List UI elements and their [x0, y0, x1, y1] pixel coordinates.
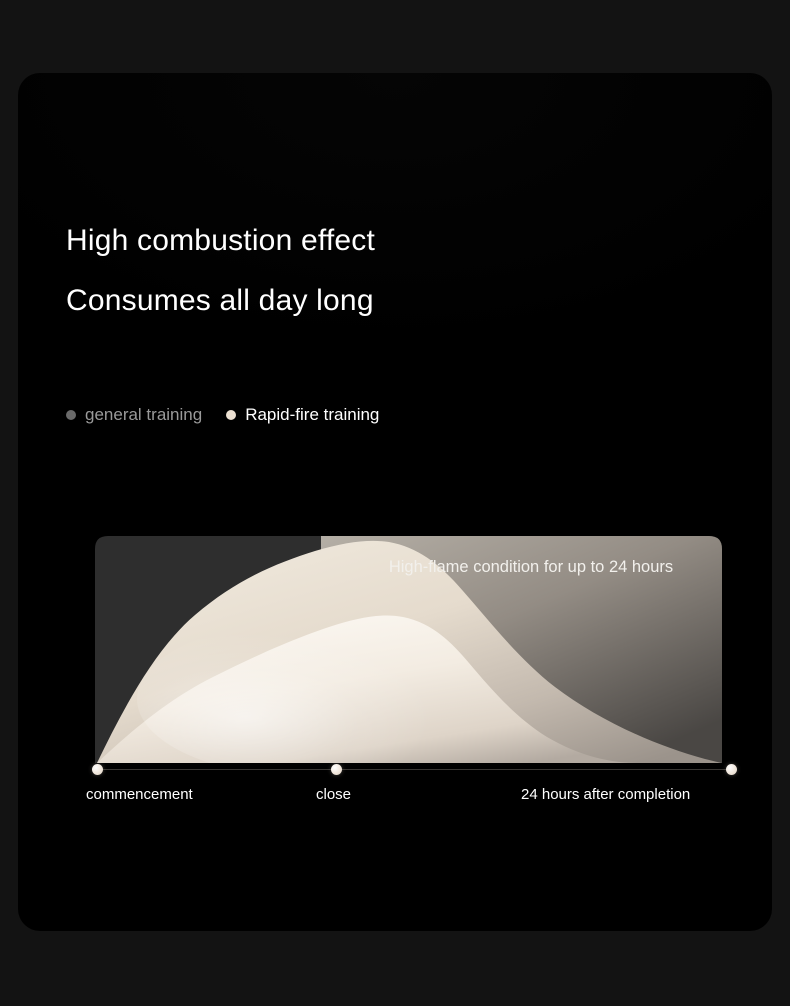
- axis-tick-dot-commencement: [92, 764, 103, 775]
- chart-x-axis: commencement close 24 hours after comple…: [77, 760, 722, 820]
- chart-canvas: [77, 463, 722, 773]
- axis-tick-dot-24-hours: [726, 764, 737, 775]
- axis-baseline: [97, 769, 732, 770]
- axis-label-commencement: commencement: [86, 785, 193, 805]
- core-glow: [137, 621, 477, 773]
- promo-card: High combustion effect Consumes all day …: [18, 73, 772, 931]
- legend-dot-icon: [226, 410, 236, 420]
- axis-label-24-hours-after-completion: 24 hours after completion: [521, 785, 690, 805]
- legend-item-general-training[interactable]: general training: [66, 405, 202, 425]
- legend-dot-icon: [66, 410, 76, 420]
- chart-legend: general training Rapid-fire training: [66, 405, 379, 425]
- headline-line-1: High combustion effect: [66, 211, 706, 271]
- page-title: High combustion effect Consumes all day …: [66, 211, 706, 331]
- legend-label: general training: [85, 405, 202, 425]
- combustion-area-chart: High-flame condition for up to 24 hours …: [77, 463, 722, 803]
- axis-label-close: close: [316, 785, 351, 805]
- axis-tick-dot-close: [331, 764, 342, 775]
- legend-label: Rapid-fire training: [245, 405, 379, 425]
- headline-line-2: Consumes all day long: [66, 271, 706, 331]
- legend-item-rapid-fire-training[interactable]: Rapid-fire training: [226, 405, 379, 425]
